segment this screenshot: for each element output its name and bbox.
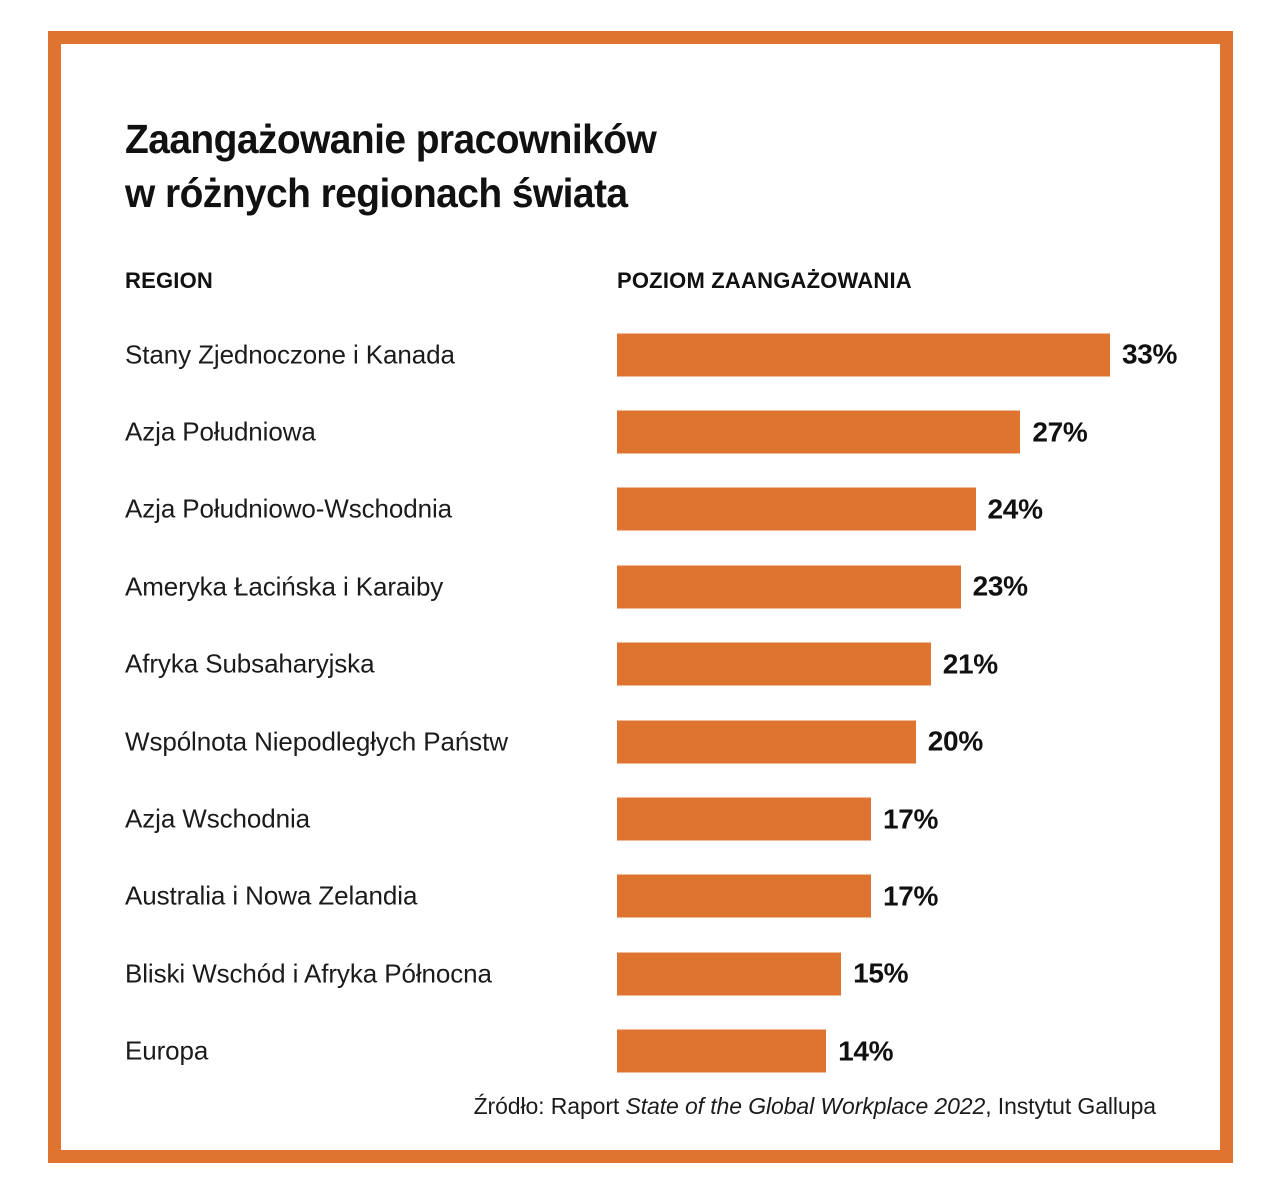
chart-row: Azja Południowa27%: [61, 393, 1220, 470]
row-category-label: Afryka Subsaharyjska: [125, 649, 374, 680]
bar-track: 23%: [617, 565, 1210, 608]
bar-value-label: 33%: [1122, 339, 1177, 371]
bar-track: 33%: [617, 333, 1210, 376]
bar-value-label: 23%: [973, 571, 1028, 603]
row-category-label: Azja Południowo-Wschodnia: [125, 494, 452, 525]
chart-row: Ameryka Łacińska i Karaiby23%: [61, 548, 1220, 625]
chart-row: Stany Zjednoczone i Kanada33%: [61, 316, 1220, 393]
column-header-level: POZIOM ZAANGAŻOWANIA: [617, 268, 912, 294]
bar: [617, 411, 1020, 454]
chart-row: Europa14%: [61, 1013, 1220, 1090]
bar-track: 21%: [617, 643, 1210, 686]
source-report-title: State of the Global Workplace 2022: [625, 1093, 985, 1119]
bar-track: 24%: [617, 488, 1210, 531]
source-prefix: Źródło: Raport: [474, 1093, 626, 1119]
bar-track: 14%: [617, 1030, 1210, 1073]
bar: [617, 333, 1110, 376]
bar-track: 17%: [617, 875, 1210, 918]
bar-value-label: 21%: [943, 648, 998, 680]
bar: [617, 488, 976, 531]
bar-value-label: 20%: [928, 726, 983, 758]
bar: [617, 798, 871, 841]
bar: [617, 565, 961, 608]
bar: [617, 875, 871, 918]
chart-row: Australia i Nowa Zelandia17%: [61, 858, 1220, 935]
bar-value-label: 14%: [838, 1035, 893, 1067]
bar: [617, 643, 931, 686]
chart-row: Azja Południowo-Wschodnia24%: [61, 471, 1220, 548]
source-suffix: , Instytut Gallupa: [985, 1093, 1156, 1119]
chart-rows: Stany Zjednoczone i Kanada33%Azja Połudn…: [61, 316, 1220, 1090]
bar-track: 15%: [617, 952, 1210, 995]
row-category-label: Wspólnota Niepodległych Państw: [125, 726, 508, 757]
bar: [617, 952, 841, 995]
chart-row: Wspólnota Niepodległych Państw20%: [61, 703, 1220, 780]
row-category-label: Australia i Nowa Zelandia: [125, 881, 417, 912]
bar-value-label: 15%: [853, 958, 908, 990]
page-title: Zaangażowanie pracowników w różnych regi…: [125, 112, 885, 220]
bar: [617, 1030, 826, 1073]
title-line-1: Zaangażowanie pracowników: [125, 112, 885, 166]
row-category-label: Azja Wschodnia: [125, 804, 310, 835]
row-category-label: Bliski Wschód i Afryka Północna: [125, 958, 492, 989]
source-note: Źródło: Raport State of the Global Workp…: [474, 1093, 1156, 1120]
row-category-label: Europa: [125, 1036, 208, 1067]
bar-track: 20%: [617, 720, 1210, 763]
orange-frame: Zaangażowanie pracowników w różnych regi…: [48, 31, 1233, 1163]
chart-row: Bliski Wschód i Afryka Północna15%: [61, 935, 1220, 1012]
title-line-2: w różnych regionach świata: [125, 166, 885, 220]
chart-canvas: Zaangażowanie pracowników w różnych regi…: [0, 0, 1280, 1195]
chart-row: Azja Wschodnia17%: [61, 780, 1220, 857]
column-header-region: REGION: [125, 268, 213, 294]
bar-track: 17%: [617, 798, 1210, 841]
bar-value-label: 24%: [988, 493, 1043, 525]
bar-value-label: 17%: [883, 880, 938, 912]
bar-value-label: 27%: [1032, 416, 1087, 448]
bar-track: 27%: [617, 411, 1210, 454]
bar: [617, 720, 916, 763]
row-category-label: Stany Zjednoczone i Kanada: [125, 339, 455, 370]
row-category-label: Azja Południowa: [125, 417, 316, 448]
row-category-label: Ameryka Łacińska i Karaiby: [125, 571, 443, 602]
card-inner: Zaangażowanie pracowników w różnych regi…: [61, 44, 1220, 1150]
bar-value-label: 17%: [883, 803, 938, 835]
chart-row: Afryka Subsaharyjska21%: [61, 626, 1220, 703]
